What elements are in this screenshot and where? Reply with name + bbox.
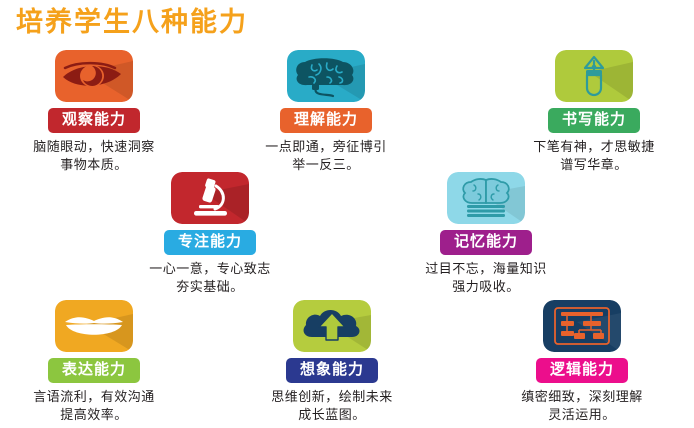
card-icon-wrap bbox=[555, 50, 633, 102]
fountain-pen-icon bbox=[555, 50, 633, 102]
ability-card-imagination[interactable]: 想象能力 思维创新，绘制未来 成长蓝图。 bbox=[238, 300, 426, 424]
ability-card-logic[interactable]: 逻辑能力 缜密细致，深刻理解 灵活运用。 bbox=[488, 300, 676, 424]
cloud-upload-icon bbox=[293, 300, 371, 352]
card-icon-wrap bbox=[55, 300, 133, 352]
card-description: 过目不忘，海量知识 强力吸收。 bbox=[392, 260, 580, 296]
card-label: 理解能力 bbox=[280, 108, 372, 133]
card-icon-wrap bbox=[55, 50, 133, 102]
card-icon-wrap bbox=[171, 172, 249, 224]
card-icon-wrap bbox=[543, 300, 621, 352]
card-description: 一心一意，专心致志 夯实基础。 bbox=[116, 260, 304, 296]
card-label: 逻辑能力 bbox=[536, 358, 628, 383]
card-description: 思维创新，绘制未来 成长蓝图。 bbox=[238, 388, 426, 424]
card-description: 一点即通，旁征博引 举一反三。 bbox=[232, 138, 420, 174]
ability-card-focus[interactable]: 专注能力 一心一意，专心致志 夯实基础。 bbox=[116, 172, 304, 296]
page-title: 培养学生八种能力 bbox=[16, 5, 248, 39]
card-description: 下笔有神，才思敏捷 谱写华章。 bbox=[500, 138, 688, 174]
card-label: 记忆能力 bbox=[440, 230, 532, 255]
brain-plug-icon bbox=[287, 50, 365, 102]
card-label: 表达能力 bbox=[48, 358, 140, 383]
card-label: 书写能力 bbox=[548, 108, 640, 133]
mouth-icon bbox=[55, 300, 133, 352]
card-description: 缜密细致，深刻理解 灵活运用。 bbox=[488, 388, 676, 424]
card-icon-wrap bbox=[287, 50, 365, 102]
card-label: 想象能力 bbox=[286, 358, 378, 383]
microscope-icon bbox=[171, 172, 249, 224]
brain-books-icon bbox=[447, 172, 525, 224]
card-label: 观察能力 bbox=[48, 108, 140, 133]
ability-card-writing[interactable]: 书写能力 下笔有神，才思敏捷 谱写华章。 bbox=[500, 50, 688, 174]
ability-card-expression[interactable]: 表达能力 言语流利，有效沟通 提高效率。 bbox=[0, 300, 188, 424]
card-description: 言语流利，有效沟通 提高效率。 bbox=[0, 388, 188, 424]
ability-card-memory[interactable]: 记忆能力 过目不忘，海量知识 强力吸收。 bbox=[392, 172, 580, 296]
poster-canvas: 培养学生八种能力 观察能力 脑随眼动，快速洞察 事物本质。 bbox=[0, 0, 694, 428]
ability-card-understanding[interactable]: 理解能力 一点即通，旁征博引 举一反三。 bbox=[232, 50, 420, 174]
card-icon-wrap bbox=[293, 300, 371, 352]
card-icon-wrap bbox=[447, 172, 525, 224]
ability-card-observation[interactable]: 观察能力 脑随眼动，快速洞察 事物本质。 bbox=[0, 50, 188, 174]
eye-icon bbox=[55, 50, 133, 102]
card-label: 专注能力 bbox=[164, 230, 256, 255]
card-description: 脑随眼动，快速洞察 事物本质。 bbox=[0, 138, 188, 174]
flowchart-icon bbox=[543, 300, 621, 352]
